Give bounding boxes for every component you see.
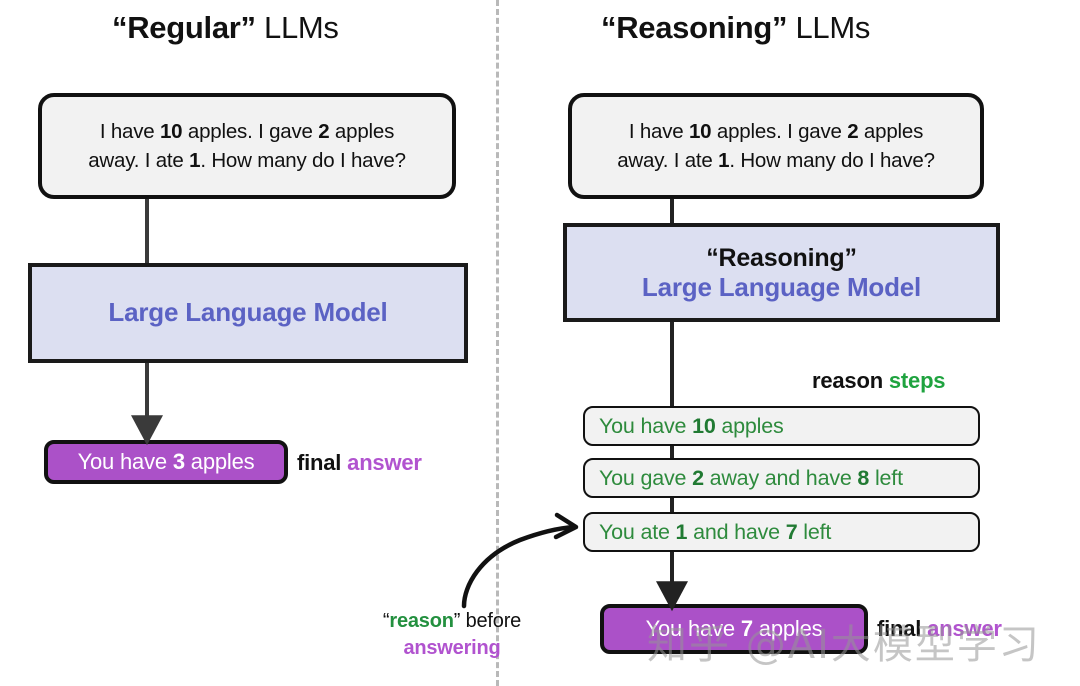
annotation-curved-arrow xyxy=(464,527,574,606)
connector-overlay xyxy=(0,0,1080,686)
diagram-canvas: “Regular” LLMs I have 10 apples. I gave … xyxy=(0,0,1080,686)
